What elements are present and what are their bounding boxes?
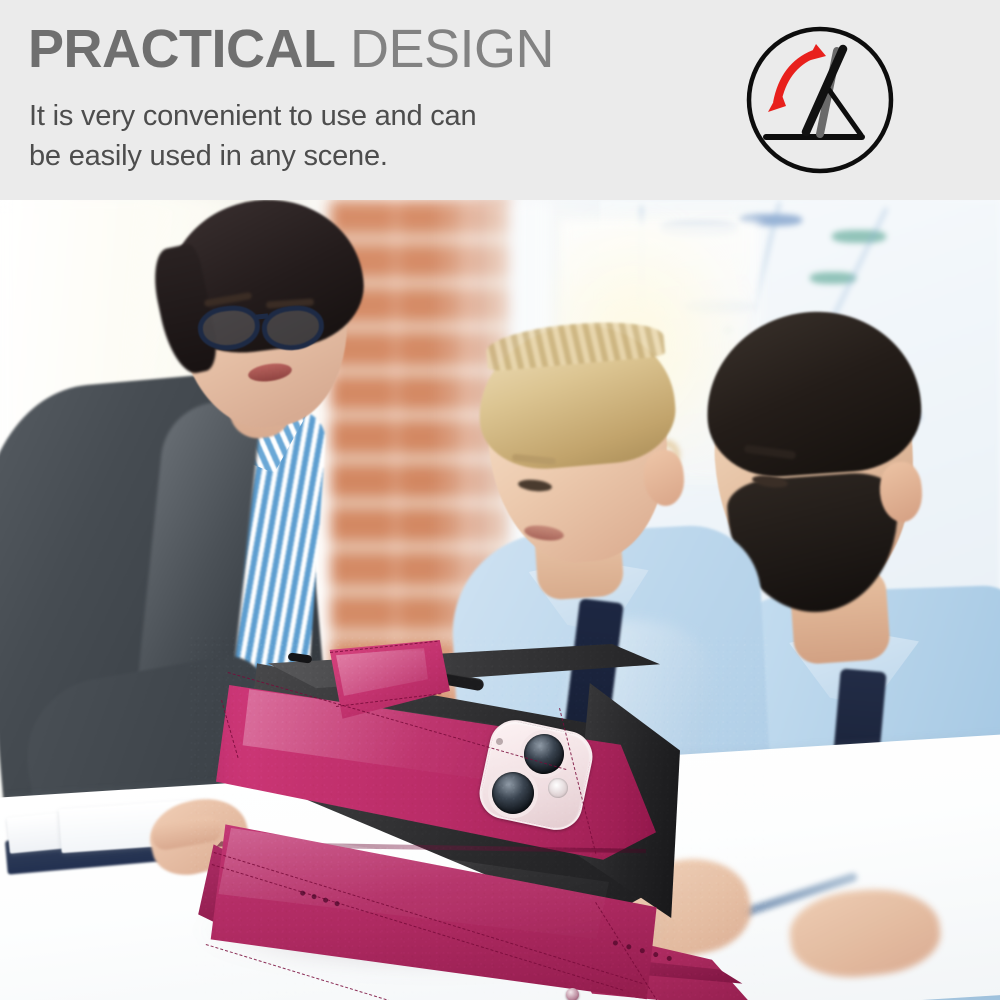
case-rivet [566,988,579,1000]
camera-microphone-dot [496,738,503,745]
phone-microphone [288,652,313,663]
header-band: PRACTICAL DESIGN It is very convenient t… [0,0,1000,200]
page-title: PRACTICAL DESIGN [28,18,554,80]
leather-wallet-phone-case [0,200,1000,1000]
page-subtitle-line2: be easily used in any scene. [29,136,476,176]
product-feature-banner: PRACTICAL DESIGN It is very convenient t… [0,0,1000,1000]
adjustable-stand-icon [744,24,896,176]
page-title-light: DESIGN [350,19,554,79]
page-subtitle: It is very convenient to use and can be … [29,96,476,176]
page-subtitle-line1: It is very convenient to use and can [29,100,476,132]
lifestyle-photo [0,200,1000,1000]
page-title-strong: PRACTICAL [28,19,335,79]
